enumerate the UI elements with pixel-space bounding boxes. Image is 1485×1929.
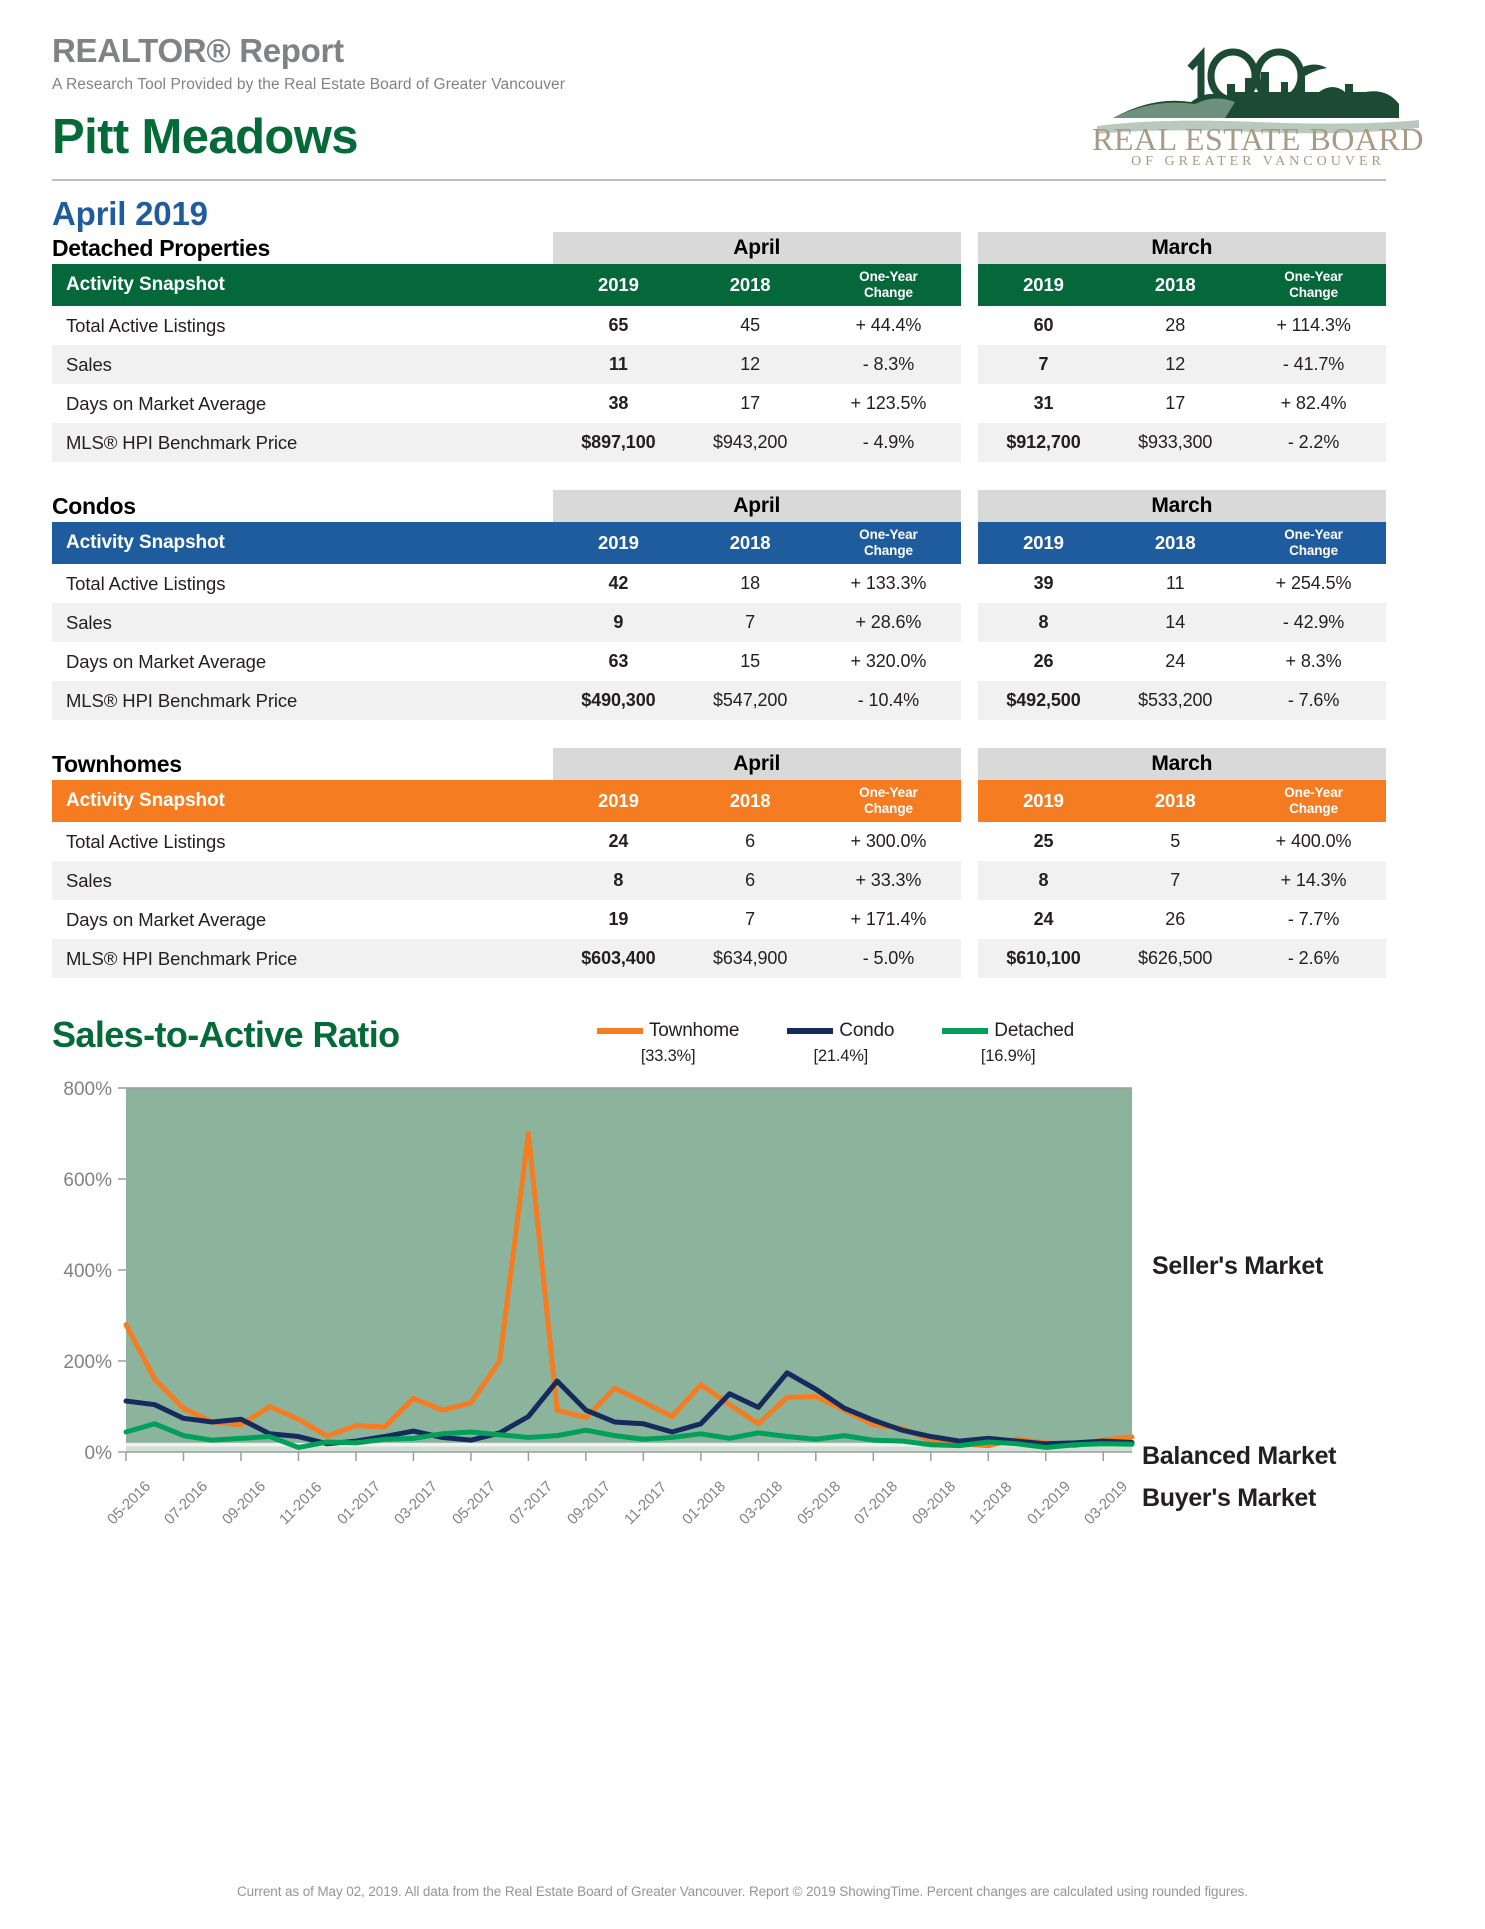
cell-apr-2018: $943,200 <box>684 423 816 462</box>
table-row: Sales 9 7 + 28.6% 8 14 - 42.9% <box>52 603 1386 642</box>
cell-apr-2019: 11 <box>553 345 685 384</box>
legend-swatch-townhome <box>597 1028 643 1034</box>
snapshot-label: Activity Snapshot <box>52 522 553 564</box>
change-line1: One-Year <box>859 785 917 800</box>
chart-x-axis-labels: 05-201607-201609-201611-201601-201703-20… <box>52 1510 1386 1606</box>
cell-mar-change: - 2.2% <box>1241 423 1386 462</box>
table-title-cell: Townhomes <box>52 748 553 780</box>
chart-legend: Townhome [33.3%] Condo [21.4%] Detached <box>597 1020 1074 1066</box>
column-gap <box>961 345 978 384</box>
column-gap <box>961 900 978 939</box>
cell-apr-change: + 28.6% <box>816 603 961 642</box>
cell-apr-2018: $634,900 <box>684 939 816 978</box>
col-apr-2019: 2019 <box>553 522 685 564</box>
cell-apr-2018: 6 <box>684 822 816 861</box>
cell-apr-2019: 9 <box>553 603 685 642</box>
annotation-buyers-market: Buyer's Market <box>1142 1484 1316 1513</box>
cell-mar-2019: $912,700 <box>978 423 1110 462</box>
cell-apr-2018: 18 <box>684 564 816 603</box>
table-month-header-row: Townhomes April March <box>52 748 1386 780</box>
change-line2: Change <box>864 543 913 558</box>
cell-mar-change: + 254.5% <box>1241 564 1386 603</box>
col-apr-2019: 2019 <box>553 264 685 306</box>
legend-swatch-condo <box>787 1028 833 1034</box>
cell-mar-2019: 60 <box>978 306 1110 345</box>
table-month-header-row: Detached Properties April March <box>52 232 1386 264</box>
table-row: Total Active Listings 24 6 + 300.0% 25 5… <box>52 822 1386 861</box>
y-axis-tick-label: 200% <box>63 1352 112 1373</box>
row-label: Total Active Listings <box>52 564 553 603</box>
col-apr-2018: 2018 <box>684 264 816 306</box>
chart-plot-area: 0%200%400%600%800% Seller's Market Balan… <box>52 1080 1386 1510</box>
header-divider <box>52 179 1386 181</box>
col-mar-change: One-Year Change <box>1241 522 1386 564</box>
snapshot-label: Activity Snapshot <box>52 780 553 822</box>
cell-mar-change: + 82.4% <box>1241 384 1386 423</box>
column-gap <box>961 748 978 780</box>
table-title-cell: Condos <box>52 490 553 522</box>
cell-apr-change: + 300.0% <box>816 822 961 861</box>
legend-value-condo: [21.4%] <box>787 1047 894 1066</box>
cell-apr-change: + 133.3% <box>816 564 961 603</box>
table-row: Days on Market Average 19 7 + 171.4% 24 … <box>52 900 1386 939</box>
cell-mar-2018: 7 <box>1109 861 1241 900</box>
cell-apr-2018: 6 <box>684 861 816 900</box>
y-axis-tick-label: 600% <box>63 1170 112 1191</box>
column-gap <box>961 681 978 720</box>
cell-apr-2019: 8 <box>553 861 685 900</box>
cell-apr-2018: 7 <box>684 603 816 642</box>
legend-label-condo: Condo <box>839 1020 894 1042</box>
col-mar-2018: 2018 <box>1109 780 1241 822</box>
footer-note: Current as of May 02, 2019. All data fro… <box>0 1884 1485 1899</box>
row-label: Total Active Listings <box>52 822 553 861</box>
row-label: Sales <box>52 861 553 900</box>
change-line2: Change <box>1289 543 1338 558</box>
change-line2: Change <box>864 285 913 300</box>
cell-mar-2018: 5 <box>1109 822 1241 861</box>
cell-apr-change: + 171.4% <box>816 900 961 939</box>
cell-mar-change: - 41.7% <box>1241 345 1386 384</box>
chart-title: Sales-to-Active Ratio <box>52 1014 400 1056</box>
cell-apr-change: + 33.3% <box>816 861 961 900</box>
table-title-cell: Detached Properties <box>52 232 553 264</box>
cell-apr-change: - 8.3% <box>816 345 961 384</box>
col-mar-2019: 2019 <box>978 264 1110 306</box>
cell-apr-change: + 44.4% <box>816 306 961 345</box>
legend-label-detached: Detached <box>994 1020 1074 1042</box>
row-label: MLS® HPI Benchmark Price <box>52 939 553 978</box>
table-column-header-row: Activity Snapshot 2019 2018 One-Year Cha… <box>52 780 1386 822</box>
row-label: MLS® HPI Benchmark Price <box>52 423 553 462</box>
cell-mar-2019: 7 <box>978 345 1110 384</box>
cell-apr-2018: $547,200 <box>684 681 816 720</box>
col-mar-2018: 2018 <box>1109 522 1241 564</box>
cell-mar-change: - 7.7% <box>1241 900 1386 939</box>
change-line1: One-Year <box>859 269 917 284</box>
cell-mar-2018: $626,500 <box>1109 939 1241 978</box>
col-mar-2019: 2019 <box>978 522 1110 564</box>
legend-swatch-detached <box>942 1028 988 1034</box>
cell-mar-change: + 400.0% <box>1241 822 1386 861</box>
month-header-right: March <box>978 490 1386 522</box>
month-header-left: April <box>553 490 961 522</box>
logo-line2: OF GREATER VANCOUVER <box>1131 154 1385 166</box>
col-apr-change: One-Year Change <box>816 264 961 306</box>
annotation-sellers-market: Seller's Market <box>1152 1252 1323 1281</box>
rebgv-logo-graphic: REAL ESTATE BOARD OF GREATER VANCOUVER <box>1083 26 1433 166</box>
report-period: April 2019 <box>52 195 1433 233</box>
cell-mar-change: + 114.3% <box>1241 306 1386 345</box>
cell-mar-2018: $933,300 <box>1109 423 1241 462</box>
y-axis-tick-label: 400% <box>63 1261 112 1282</box>
cell-mar-2018: $533,200 <box>1109 681 1241 720</box>
table-row: MLS® HPI Benchmark Price $603,400 $634,9… <box>52 939 1386 978</box>
row-label: Sales <box>52 603 553 642</box>
cell-apr-change: - 10.4% <box>816 681 961 720</box>
col-apr-change: One-Year Change <box>816 522 961 564</box>
change-line1: One-Year <box>1284 527 1342 542</box>
column-gap <box>961 564 978 603</box>
cell-apr-2018: 45 <box>684 306 816 345</box>
column-gap <box>961 232 978 264</box>
column-gap <box>961 642 978 681</box>
annotation-balanced-market: Balanced Market <box>1142 1442 1336 1471</box>
col-apr-2018: 2018 <box>684 780 816 822</box>
table-row: Days on Market Average 38 17 + 123.5% 31… <box>52 384 1386 423</box>
chart-band <box>126 1088 1132 1443</box>
row-label: Total Active Listings <box>52 306 553 345</box>
table-row: MLS® HPI Benchmark Price $490,300 $547,2… <box>52 681 1386 720</box>
change-line2: Change <box>1289 801 1338 816</box>
cell-apr-2018: 15 <box>684 642 816 681</box>
report-page: REALTOR® Report A Research Tool Provided… <box>0 0 1485 1929</box>
table-row: Days on Market Average 63 15 + 320.0% 26… <box>52 642 1386 681</box>
tables-container: Detached Properties April March Activity… <box>0 232 1485 978</box>
table-row: Sales 11 12 - 8.3% 7 12 - 41.7% <box>52 345 1386 384</box>
column-gap <box>961 861 978 900</box>
col-mar-2018: 2018 <box>1109 264 1241 306</box>
cell-apr-2019: $490,300 <box>553 681 685 720</box>
rebgv-logo: REAL ESTATE BOARD OF GREATER VANCOUVER <box>1083 26 1433 166</box>
cell-apr-change: - 4.9% <box>816 423 961 462</box>
change-line2: Change <box>864 801 913 816</box>
report-header: REALTOR® Report A Research Tool Provided… <box>0 0 1485 232</box>
cell-apr-2019: $603,400 <box>553 939 685 978</box>
cell-apr-change: + 123.5% <box>816 384 961 423</box>
table-column-header-row: Activity Snapshot 2019 2018 One-Year Cha… <box>52 522 1386 564</box>
month-header-right: March <box>978 748 1386 780</box>
table-row: MLS® HPI Benchmark Price $897,100 $943,2… <box>52 423 1386 462</box>
column-gap <box>961 939 978 978</box>
column-gap <box>961 522 978 564</box>
cell-mar-2019: 8 <box>978 861 1110 900</box>
column-gap <box>961 264 978 306</box>
month-header-left: April <box>553 748 961 780</box>
month-header-left: April <box>553 232 961 264</box>
cell-mar-2019: $492,500 <box>978 681 1110 720</box>
column-gap <box>961 780 978 822</box>
cell-mar-2018: 12 <box>1109 345 1241 384</box>
table-column-header-row: Activity Snapshot 2019 2018 One-Year Cha… <box>52 264 1386 306</box>
row-label: Days on Market Average <box>52 900 553 939</box>
legend-item-detached: Detached [16.9%] <box>942 1020 1074 1066</box>
cell-mar-2019: 24 <box>978 900 1110 939</box>
table-row: Total Active Listings 42 18 + 133.3% 39 … <box>52 564 1386 603</box>
logo-line1: REAL ESTATE BOARD <box>1092 121 1424 157</box>
table-title: Townhomes <box>52 751 553 778</box>
cell-mar-2019: 25 <box>978 822 1110 861</box>
table-row: Total Active Listings 65 45 + 44.4% 60 2… <box>52 306 1386 345</box>
cell-mar-2018: 11 <box>1109 564 1241 603</box>
cell-apr-change: - 5.0% <box>816 939 961 978</box>
cell-mar-change: - 42.9% <box>1241 603 1386 642</box>
column-gap <box>961 384 978 423</box>
sales-to-active-ratio-chart: Sales-to-Active Ratio Townhome [33.3%] C… <box>0 1006 1485 1606</box>
cell-mar-2018: 26 <box>1109 900 1241 939</box>
column-gap <box>961 306 978 345</box>
table-title: Condos <box>52 493 553 520</box>
col-mar-change: One-Year Change <box>1241 780 1386 822</box>
col-apr-change: One-Year Change <box>816 780 961 822</box>
column-gap <box>961 490 978 522</box>
legend-value-detached: [16.9%] <box>942 1047 1074 1066</box>
change-line1: One-Year <box>1284 269 1342 284</box>
column-gap <box>961 822 978 861</box>
table-detached-properties: Detached Properties April March Activity… <box>52 232 1433 462</box>
legend-value-townhome: [33.3%] <box>597 1047 739 1066</box>
table-townhomes: Townhomes April March Activity Snapshot … <box>52 748 1433 978</box>
cell-mar-2019: 39 <box>978 564 1110 603</box>
column-gap <box>961 603 978 642</box>
cell-apr-2018: 12 <box>684 345 816 384</box>
cell-mar-change: - 2.6% <box>1241 939 1386 978</box>
cell-apr-2019: 65 <box>553 306 685 345</box>
cell-apr-2018: 17 <box>684 384 816 423</box>
y-axis-tick-label: 0% <box>85 1443 113 1464</box>
cell-mar-2019: 26 <box>978 642 1110 681</box>
cell-apr-2019: 19 <box>553 900 685 939</box>
month-header-right: March <box>978 232 1386 264</box>
change-line1: One-Year <box>859 527 917 542</box>
cell-mar-2019: 31 <box>978 384 1110 423</box>
col-mar-2019: 2019 <box>978 780 1110 822</box>
snapshot-label: Activity Snapshot <box>52 264 553 306</box>
legend-item-condo: Condo [21.4%] <box>787 1020 894 1066</box>
cell-apr-change: + 320.0% <box>816 642 961 681</box>
col-apr-2019: 2019 <box>553 780 685 822</box>
row-label: Days on Market Average <box>52 642 553 681</box>
cell-mar-2018: 28 <box>1109 306 1241 345</box>
col-apr-2018: 2018 <box>684 522 816 564</box>
y-axis-tick-label: 800% <box>63 1080 112 1100</box>
row-label: MLS® HPI Benchmark Price <box>52 681 553 720</box>
cell-mar-2018: 14 <box>1109 603 1241 642</box>
row-label: Sales <box>52 345 553 384</box>
cell-apr-2019: 24 <box>553 822 685 861</box>
cell-mar-2018: 24 <box>1109 642 1241 681</box>
cell-mar-2019: 8 <box>978 603 1110 642</box>
change-line2: Change <box>1289 285 1338 300</box>
cell-apr-2019: 63 <box>553 642 685 681</box>
cell-apr-2019: 38 <box>553 384 685 423</box>
cell-mar-change: + 8.3% <box>1241 642 1386 681</box>
cell-mar-2018: 17 <box>1109 384 1241 423</box>
table-month-header-row: Condos April March <box>52 490 1386 522</box>
row-label: Days on Market Average <box>52 384 553 423</box>
chart-header: Sales-to-Active Ratio Townhome [33.3%] C… <box>52 1006 1433 1080</box>
cell-mar-change: - 7.6% <box>1241 681 1386 720</box>
cell-apr-2019: $897,100 <box>553 423 685 462</box>
cell-mar-2019: $610,100 <box>978 939 1110 978</box>
col-mar-change: One-Year Change <box>1241 264 1386 306</box>
legend-item-townhome: Townhome [33.3%] <box>597 1020 739 1066</box>
table-condos: Condos April March Activity Snapshot 201… <box>52 490 1433 720</box>
cell-apr-2018: 7 <box>684 900 816 939</box>
change-line1: One-Year <box>1284 785 1342 800</box>
table-title: Detached Properties <box>52 235 553 262</box>
legend-label-townhome: Townhome <box>649 1020 739 1042</box>
column-gap <box>961 423 978 462</box>
cell-mar-change: + 14.3% <box>1241 861 1386 900</box>
cell-apr-2019: 42 <box>553 564 685 603</box>
table-row: Sales 8 6 + 33.3% 8 7 + 14.3% <box>52 861 1386 900</box>
